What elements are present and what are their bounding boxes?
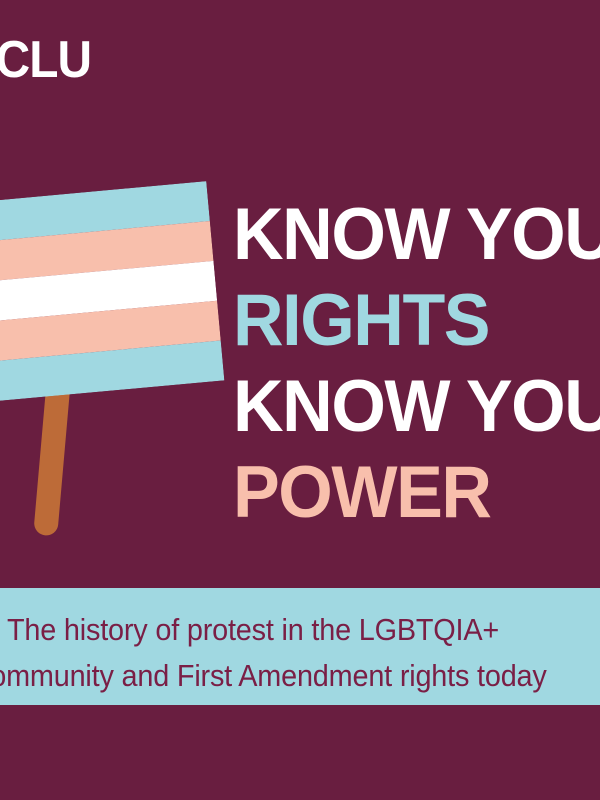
aclu-logo-text: ACLU: [0, 30, 109, 90]
poster-canvas: ACLU KNOW YOUR RIGHTS KNOW YOUR POWER 3:…: [0, 0, 600, 800]
headline-line-power: POWER: [233, 450, 600, 536]
headline-block: KNOW YOUR RIGHTS KNOW YOUR POWER: [233, 192, 600, 536]
headline-line-rights: RIGHTS: [233, 278, 600, 364]
aclu-logo[interactable]: ACLU: [0, 30, 122, 90]
headline-line-know-your-2: KNOW YOUR: [233, 364, 600, 450]
transgender-pride-flag-board: [0, 181, 224, 411]
protest-sign-graphic: [0, 196, 220, 556]
headline-line-know-your-1: KNOW YOUR: [233, 192, 600, 278]
caption-text: 3: The history of protest in the LGBTQIA…: [0, 607, 600, 699]
caption-bar: 3: The history of protest in the LGBTQIA…: [0, 588, 600, 705]
